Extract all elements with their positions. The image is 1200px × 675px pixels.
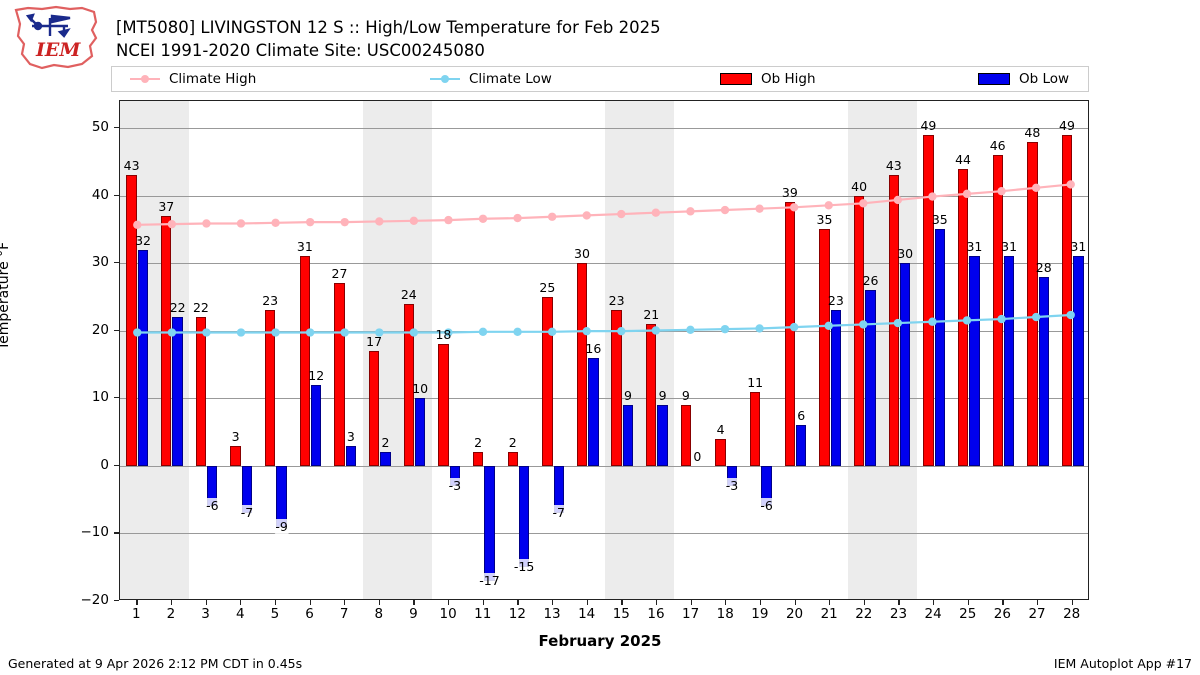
climate-high-marker <box>271 219 279 227</box>
label-low-day-3: -6 <box>205 498 219 513</box>
x-tick-label-2: 2 <box>167 606 176 622</box>
label-high-day-3: 22 <box>193 300 209 315</box>
bar-high-day-6[interactable] <box>300 256 310 465</box>
x-tick-mark <box>829 600 830 605</box>
label-high-day-28: 49 <box>1059 118 1075 133</box>
label-high-day-17: 9 <box>682 388 690 403</box>
x-tick-mark <box>898 600 899 605</box>
bar-high-day-27[interactable] <box>1027 142 1037 466</box>
bar-low-day-12[interactable] <box>519 466 529 567</box>
iem-logo: IEM <box>8 4 104 72</box>
climate-high-marker <box>202 219 210 227</box>
label-high-day-12: 2 <box>509 435 517 450</box>
bar-high-day-2[interactable] <box>161 216 171 466</box>
x-tick-label-21: 21 <box>821 606 838 622</box>
zero-line <box>120 466 1088 467</box>
bar-high-day-21[interactable] <box>819 229 829 465</box>
y-tick-mark <box>114 127 119 128</box>
label-high-day-21: 35 <box>817 212 833 227</box>
x-tick-mark <box>379 600 380 605</box>
bar-high-day-18[interactable] <box>715 439 725 466</box>
legend-item-ob-high[interactable]: Ob High <box>720 71 816 87</box>
label-high-day-9: 24 <box>401 287 417 302</box>
climate-high-marker <box>341 218 349 226</box>
label-low-day-23: 30 <box>897 246 913 261</box>
label-low-day-20: 6 <box>797 408 805 423</box>
bar-low-day-24[interactable] <box>935 229 945 465</box>
label-high-day-7: 27 <box>332 266 348 281</box>
gridline <box>120 533 1088 534</box>
label-low-day-24: 35 <box>932 212 948 227</box>
x-tick-label-26: 26 <box>994 606 1011 622</box>
iem-logo-text: IEM <box>35 39 81 61</box>
label-low-day-28: 31 <box>1070 239 1086 254</box>
bar-low-day-15[interactable] <box>623 405 633 466</box>
label-high-day-16: 21 <box>643 307 659 322</box>
bar-high-day-13[interactable] <box>542 297 552 466</box>
y-axis-label: Temperature °F <box>0 242 12 350</box>
label-high-day-13: 25 <box>539 280 555 295</box>
x-tick-label-10: 10 <box>440 606 457 622</box>
label-low-day-2: 22 <box>170 300 186 315</box>
x-tick-label-7: 7 <box>340 606 349 622</box>
x-tick-mark <box>725 600 726 605</box>
climate-high-marker <box>237 219 245 227</box>
x-tick-mark <box>344 600 345 605</box>
x-tick-mark <box>206 600 207 605</box>
label-high-day-23: 43 <box>886 158 902 173</box>
bar-high-day-10[interactable] <box>438 344 448 466</box>
label-high-day-10: 18 <box>435 327 451 342</box>
climate-high-marker <box>721 206 729 214</box>
label-high-day-5: 23 <box>262 293 278 308</box>
label-low-day-19: -6 <box>759 498 773 513</box>
bar-high-day-28[interactable] <box>1062 135 1072 466</box>
climate-high-marker <box>479 215 487 223</box>
y-tick-label: −20 <box>81 592 110 608</box>
label-low-day-5: -9 <box>274 519 288 534</box>
x-axis-label: February 2025 <box>0 632 1200 650</box>
x-tick-label-22: 22 <box>855 606 872 622</box>
label-low-day-12: -15 <box>513 559 535 574</box>
title-line-1: [MT5080] LIVINGSTON 12 S :: High/Low Tem… <box>116 16 661 39</box>
x-tick-label-17: 17 <box>682 606 699 622</box>
x-tick-label-9: 9 <box>409 606 418 622</box>
label-low-day-26: 31 <box>1001 239 1017 254</box>
bar-low-day-20[interactable] <box>796 425 806 466</box>
climate-high-marker <box>755 204 763 212</box>
x-tick-label-5: 5 <box>271 606 280 622</box>
bar-low-day-14[interactable] <box>588 358 598 466</box>
label-low-day-1: 32 <box>135 233 151 248</box>
footer-app-text: IEM Autoplot App #17 <box>1054 656 1192 671</box>
bar-low-day-9[interactable] <box>415 398 425 466</box>
label-low-day-16: 9 <box>659 388 667 403</box>
label-high-day-20: 39 <box>782 185 798 200</box>
x-tick-mark <box>1002 600 1003 605</box>
bar-low-day-1[interactable] <box>138 250 148 466</box>
y-tick-label: 0 <box>100 457 109 473</box>
label-low-day-8: 2 <box>382 435 390 450</box>
bar-low-day-11[interactable] <box>484 466 494 581</box>
ob-high-swatch-icon <box>720 73 752 85</box>
climate-high-marker <box>825 201 833 209</box>
y-tick-mark <box>114 397 119 398</box>
climate-high-marker <box>686 207 694 215</box>
climate-high-marker <box>548 213 556 221</box>
bar-high-day-12[interactable] <box>508 452 518 466</box>
bar-low-day-7[interactable] <box>346 446 356 466</box>
climate-low-marker <box>237 328 245 336</box>
gridline <box>120 196 1088 197</box>
label-low-day-7: 3 <box>347 429 355 444</box>
climate-low-marker <box>721 325 729 333</box>
label-high-day-25: 44 <box>955 152 971 167</box>
label-high-day-14: 30 <box>574 246 590 261</box>
legend-label-ob-high: Ob High <box>761 71 816 87</box>
y-tick-label: 50 <box>92 119 109 135</box>
x-tick-mark <box>968 600 969 605</box>
x-tick-label-3: 3 <box>201 606 210 622</box>
bar-low-day-26[interactable] <box>1004 256 1014 465</box>
label-low-day-11: -17 <box>478 573 500 588</box>
x-tick-mark <box>136 600 137 605</box>
bar-low-day-2[interactable] <box>172 317 182 466</box>
label-low-day-18: -3 <box>725 478 739 493</box>
x-tick-label-8: 8 <box>375 606 384 622</box>
weekend-band <box>363 101 432 599</box>
ob-low-swatch-icon <box>978 73 1010 85</box>
y-tick-label: 20 <box>92 322 109 338</box>
x-tick-mark <box>691 600 692 605</box>
bar-high-day-20[interactable] <box>785 202 795 466</box>
bar-high-day-1[interactable] <box>126 175 136 466</box>
y-tick-mark <box>114 465 119 466</box>
x-tick-mark <box>517 600 518 605</box>
bar-low-day-25[interactable] <box>969 256 979 465</box>
bar-low-day-6[interactable] <box>311 385 321 466</box>
x-tick-mark <box>240 600 241 605</box>
x-tick-label-4: 4 <box>236 606 245 622</box>
x-tick-mark <box>587 600 588 605</box>
x-tick-label-11: 11 <box>474 606 491 622</box>
x-tick-mark <box>413 600 414 605</box>
x-tick-label-24: 24 <box>925 606 942 622</box>
x-tick-label-1: 1 <box>132 606 141 622</box>
label-high-day-19: 11 <box>747 375 763 390</box>
legend-label-climate-high: Climate High <box>169 71 256 87</box>
bar-high-day-24[interactable] <box>923 135 933 466</box>
gridline <box>120 128 1088 129</box>
label-low-day-9: 10 <box>412 381 428 396</box>
bar-high-day-26[interactable] <box>993 155 1003 466</box>
bar-high-day-7[interactable] <box>334 283 344 465</box>
bar-high-day-4[interactable] <box>230 446 240 466</box>
y-tick-label: 10 <box>92 389 109 405</box>
x-tick-label-12: 12 <box>509 606 526 622</box>
x-tick-mark <box>621 600 622 605</box>
iem-logo-icon: IEM <box>8 4 104 72</box>
climate-high-marker <box>583 211 591 219</box>
x-tick-label-18: 18 <box>717 606 734 622</box>
label-low-day-13: -7 <box>551 505 565 520</box>
label-low-day-25: 31 <box>966 239 982 254</box>
legend-item-climate-high[interactable]: Climate High <box>130 71 256 87</box>
label-low-day-22: 26 <box>863 273 879 288</box>
x-tick-label-25: 25 <box>959 606 976 622</box>
bar-high-day-3[interactable] <box>196 317 206 466</box>
legend-item-ob-low[interactable]: Ob Low <box>978 71 1069 87</box>
x-tick-mark <box>864 600 865 605</box>
x-tick-label-28: 28 <box>1063 606 1080 622</box>
x-tick-label-14: 14 <box>578 606 595 622</box>
legend-label-climate-low: Climate Low <box>469 71 552 87</box>
bar-high-day-23[interactable] <box>889 175 899 466</box>
climate-high-line-icon <box>130 73 160 85</box>
x-tick-mark <box>795 600 796 605</box>
x-tick-label-19: 19 <box>751 606 768 622</box>
label-low-day-10: -3 <box>448 478 462 493</box>
climate-low-marker <box>479 328 487 336</box>
x-tick-mark <box>933 600 934 605</box>
bar-high-day-17[interactable] <box>681 405 691 466</box>
y-tick-label: 30 <box>92 254 109 270</box>
bar-low-day-21[interactable] <box>831 310 841 465</box>
chart-legend: Climate High Climate Low Ob High Ob Low <box>111 66 1089 92</box>
x-tick-label-20: 20 <box>786 606 803 622</box>
x-tick-label-6: 6 <box>305 606 314 622</box>
bar-low-day-8[interactable] <box>380 452 390 466</box>
bar-low-day-5[interactable] <box>276 466 286 527</box>
x-tick-mark <box>483 600 484 605</box>
bar-high-day-11[interactable] <box>473 452 483 466</box>
x-tick-label-16: 16 <box>647 606 664 622</box>
climate-high-marker <box>306 218 314 226</box>
bar-high-day-16[interactable] <box>646 324 656 466</box>
legend-label-ob-low: Ob Low <box>1019 71 1069 87</box>
x-tick-mark <box>275 600 276 605</box>
label-low-day-17: 0 <box>693 449 701 464</box>
label-high-day-26: 46 <box>990 138 1006 153</box>
y-tick-mark <box>114 600 119 601</box>
bar-low-day-28[interactable] <box>1073 256 1083 465</box>
bar-low-day-16[interactable] <box>657 405 667 466</box>
label-high-day-27: 48 <box>1024 125 1040 140</box>
label-low-day-27: 28 <box>1036 260 1052 275</box>
bar-high-day-8[interactable] <box>369 351 379 466</box>
climate-high-marker <box>513 214 521 222</box>
label-high-day-1: 43 <box>124 158 140 173</box>
y-tick-mark <box>114 532 119 533</box>
x-tick-mark <box>310 600 311 605</box>
label-low-day-15: 9 <box>624 388 632 403</box>
bar-high-day-14[interactable] <box>577 263 587 466</box>
label-low-day-21: 23 <box>828 293 844 308</box>
label-high-day-6: 31 <box>297 239 313 254</box>
bar-low-day-27[interactable] <box>1039 277 1049 466</box>
label-high-day-11: 2 <box>474 435 482 450</box>
climate-low-line-icon <box>430 73 460 85</box>
bar-high-day-15[interactable] <box>611 310 621 465</box>
label-low-day-6: 12 <box>308 368 324 383</box>
bar-high-day-19[interactable] <box>750 392 760 466</box>
x-tick-mark <box>1037 600 1038 605</box>
x-tick-label-13: 13 <box>543 606 560 622</box>
label-high-day-18: 4 <box>717 422 725 437</box>
climate-high-marker <box>444 216 452 224</box>
x-tick-mark <box>1072 600 1073 605</box>
bar-low-day-22[interactable] <box>865 290 875 466</box>
x-tick-label-15: 15 <box>613 606 630 622</box>
label-high-day-15: 23 <box>609 293 625 308</box>
bar-high-day-25[interactable] <box>958 169 968 466</box>
label-high-day-4: 3 <box>232 429 240 444</box>
y-tick-label: −10 <box>81 524 110 540</box>
x-tick-label-27: 27 <box>1028 606 1045 622</box>
label-low-day-4: -7 <box>240 505 254 520</box>
legend-item-climate-low[interactable]: Climate Low <box>430 71 552 87</box>
y-tick-mark <box>114 195 119 196</box>
x-tick-mark <box>448 600 449 605</box>
y-tick-mark <box>114 330 119 331</box>
label-high-day-8: 17 <box>366 334 382 349</box>
label-high-day-22: 40 <box>851 179 867 194</box>
x-tick-mark <box>552 600 553 605</box>
climate-low-marker <box>513 328 521 336</box>
bar-high-day-22[interactable] <box>854 196 864 466</box>
label-low-day-14: 16 <box>585 341 601 356</box>
label-high-day-24: 49 <box>920 118 936 133</box>
bar-high-day-5[interactable] <box>265 310 275 465</box>
bar-low-day-23[interactable] <box>900 263 910 466</box>
x-tick-mark <box>760 600 761 605</box>
x-tick-mark <box>656 600 657 605</box>
y-tick-mark <box>114 262 119 263</box>
y-tick-label: 40 <box>92 187 109 203</box>
page-title: [MT5080] LIVINGSTON 12 S :: High/Low Tem… <box>116 16 661 62</box>
title-line-2: NCEI 1991-2020 Climate Site: USC00245080 <box>116 39 661 62</box>
footer-generated-text: Generated at 9 Apr 2026 2:12 PM CDT in 0… <box>8 656 302 671</box>
x-tick-label-23: 23 <box>890 606 907 622</box>
x-tick-mark <box>171 600 172 605</box>
label-high-day-2: 37 <box>158 199 174 214</box>
chart-plot-area: 4332372222-63-723-93112273172241018-32-1… <box>119 100 1089 600</box>
